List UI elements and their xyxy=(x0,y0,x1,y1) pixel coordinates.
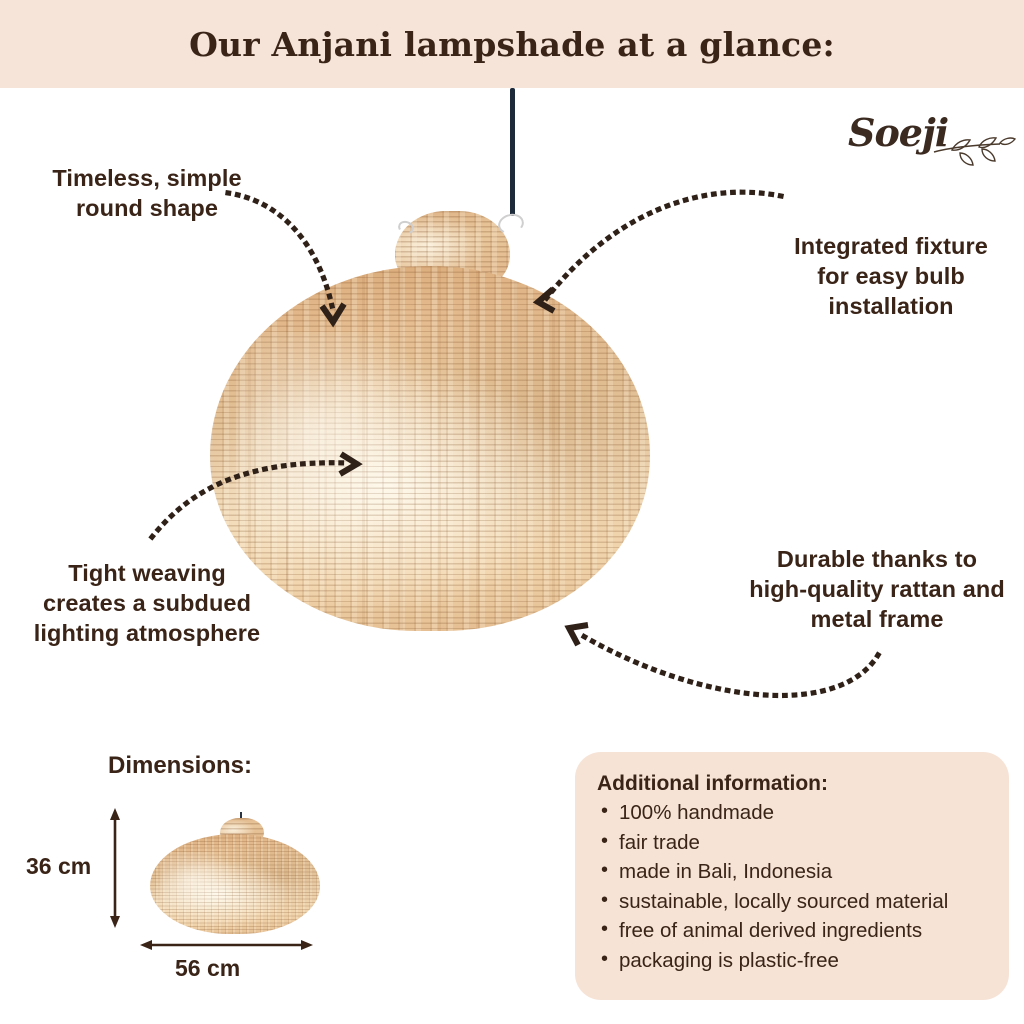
list-item: fair trade xyxy=(597,828,983,858)
header-banner: Our Anjani lampshade at a glance: xyxy=(0,0,1024,88)
brand-logo: Soeji xyxy=(848,104,1016,178)
brand-wordmark: Soeji xyxy=(848,110,948,155)
lampshade-dimension-photo xyxy=(150,812,320,934)
list-item: made in Bali, Indonesia xyxy=(597,857,983,887)
page-title: Our Anjani lampshade at a glance: xyxy=(189,25,835,64)
callout-line: Tight weaving xyxy=(18,558,276,588)
lampshade-photo xyxy=(210,211,650,631)
list-item: free of animal derived ingredients xyxy=(597,916,983,946)
list-item: 100% handmade xyxy=(597,798,983,828)
additional-information-title: Additional information: xyxy=(597,772,983,796)
list-item: sustainable, locally sourced material xyxy=(597,887,983,917)
callout-line: Timeless, simple xyxy=(22,163,272,193)
pendant-cord xyxy=(510,88,515,216)
callout-line: metal frame xyxy=(736,604,1018,634)
callout-line: high-quality rattan and xyxy=(736,574,1018,604)
callout-line: Durable thanks to xyxy=(736,544,1018,574)
callout-line: lighting atmosphere xyxy=(18,618,276,648)
callout-weaving: Tight weaving creates a subdued lighting… xyxy=(18,558,276,648)
lampshade-body xyxy=(210,266,650,631)
dimension-label-height: 36 cm xyxy=(26,853,91,880)
callout-line: installation xyxy=(772,291,1010,321)
callout-round-shape: Timeless, simple round shape xyxy=(22,163,272,223)
highlight-gloss xyxy=(236,332,438,558)
callout-line: round shape xyxy=(22,193,272,223)
callout-fixture: Integrated fixture for easy bulb install… xyxy=(772,231,1010,321)
callout-line: creates a subdued xyxy=(18,588,276,618)
highlight-gloss xyxy=(160,852,238,914)
mini-lampshade-body xyxy=(150,834,320,934)
additional-information-list: 100% handmade fair trade made in Bali, I… xyxy=(597,798,983,975)
list-item: packaging is plastic-free xyxy=(597,946,983,976)
callout-line: Integrated fixture xyxy=(772,231,1010,261)
dimensions-title: Dimensions: xyxy=(20,752,340,780)
dimension-label-width: 56 cm xyxy=(175,955,240,982)
additional-information-card: Additional information: 100% handmade fa… xyxy=(575,752,1009,1000)
callout-line: for easy bulb xyxy=(772,261,1010,291)
callout-durable: Durable thanks to high-quality rattan an… xyxy=(736,544,1018,634)
